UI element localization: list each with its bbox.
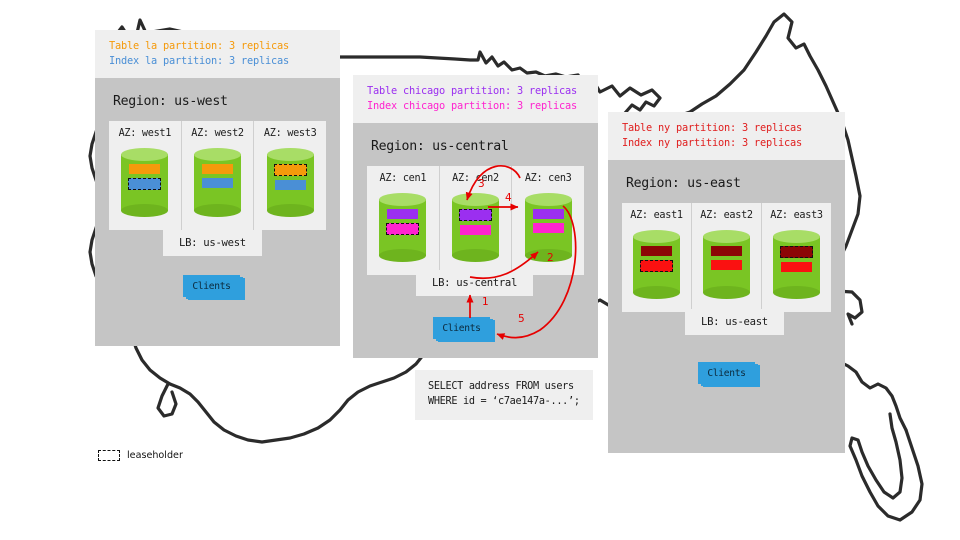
az-cell-cen1[interactable]: AZ: cen1 — [367, 166, 440, 275]
table-replica-bar-east2 — [711, 246, 742, 256]
index-replica-bar-east3 — [781, 262, 812, 272]
table-replica-bar-cen1 — [387, 209, 418, 219]
partition-table-line-us-east: Table ny partition: 3 replicas — [622, 121, 831, 136]
region-cluster-us-central: Table chicago partition: 3 replicas Inde… — [353, 75, 598, 358]
az-cell-east1[interactable]: AZ: east1 — [622, 203, 692, 312]
region-title-us-east: Region: us-east — [622, 171, 831, 203]
az-label-east1: AZ: east1 — [630, 210, 683, 221]
clients-card-front: Clients — [698, 362, 755, 384]
az-row-us-east: AZ: east1 AZ: east2 — [622, 203, 831, 312]
arrow-label-1: 1 — [482, 296, 489, 308]
az-cell-west3[interactable]: AZ: west3 — [254, 121, 326, 230]
database-cylinder-east1[interactable] — [633, 230, 680, 299]
cylinder-bottom — [379, 249, 426, 262]
lb-box-us-east[interactable]: LB: us-east — [685, 309, 784, 335]
clients-card-front: Clients — [183, 275, 240, 297]
az-row-us-west: AZ: west1 AZ: west2 — [109, 121, 326, 230]
arrow-label-4: 4 — [505, 192, 512, 204]
replica-bars-west1 — [121, 164, 168, 190]
index-replica-bar-east2 — [711, 260, 742, 270]
database-cylinder-east2[interactable] — [703, 230, 750, 299]
az-label-cen3: AZ: cen3 — [525, 173, 572, 184]
clients-stack-us-central[interactable]: Clients — [433, 317, 495, 342]
cylinder-bottom — [633, 286, 680, 299]
database-cylinder-cen2[interactable] — [452, 193, 499, 262]
database-cylinder-cen1[interactable] — [379, 193, 426, 262]
clients-stack-us-east[interactable]: Clients — [698, 362, 760, 387]
index-replica-bar-east1-leaseholder — [640, 260, 673, 272]
dashed-rectangle-icon — [98, 450, 120, 461]
sql-line-2: WHERE id = ‘c7ae147a-...’; — [428, 394, 580, 409]
table-replica-bar-west2 — [202, 164, 233, 174]
replica-bars-east2 — [703, 246, 750, 270]
index-replica-bar-west3 — [275, 180, 306, 190]
database-cylinder-west3[interactable] — [267, 148, 314, 217]
index-replica-bar-cen3 — [533, 223, 564, 233]
region-title-us-central: Region: us-central — [367, 134, 584, 166]
az-cell-east3[interactable]: AZ: east3 — [762, 203, 831, 312]
az-label-west1: AZ: west1 — [119, 128, 172, 139]
sql-line-1: SELECT address FROM users — [428, 379, 580, 394]
index-replica-bar-cen2 — [460, 225, 491, 235]
replica-bars-west3 — [267, 164, 314, 190]
partition-index-line-us-east: Index ny partition: 3 replicas — [622, 136, 831, 151]
table-replica-bar-cen3 — [533, 209, 564, 219]
partition-table-line-us-central: Table chicago partition: 3 replicas — [367, 84, 584, 99]
replica-bars-west2 — [194, 164, 241, 188]
replica-bars-cen3 — [525, 209, 572, 233]
sql-query-note: SELECT address FROM users WHERE id = ‘c7… — [415, 370, 593, 420]
table-replica-bar-cen2-leaseholder — [459, 209, 492, 221]
diagram-canvas: Table la partition: 3 replicas Index la … — [0, 0, 960, 540]
index-replica-bar-west2 — [202, 178, 233, 188]
az-label-west3: AZ: west3 — [264, 128, 317, 139]
index-replica-bar-cen1-leaseholder — [386, 223, 419, 235]
arrow-label-2: 2 — [547, 252, 554, 264]
lb-box-us-central[interactable]: LB: us-central — [416, 270, 533, 296]
arrow-label-5: 5 — [518, 313, 525, 325]
clients-stack-us-west[interactable]: Clients — [183, 275, 245, 300]
az-label-cen2: AZ: cen2 — [452, 173, 499, 184]
region-body-us-west: Region: us-west AZ: west1 AZ — [95, 78, 340, 346]
table-replica-bar-west1 — [129, 164, 160, 174]
cylinder-bottom — [703, 286, 750, 299]
az-label-west2: AZ: west2 — [191, 128, 244, 139]
table-replica-bar-west3-leaseholder — [274, 164, 307, 176]
legend-label: leaseholder — [127, 450, 183, 461]
cylinder-bottom — [121, 204, 168, 217]
clients-card-front: Clients — [433, 317, 490, 339]
database-cylinder-west2[interactable] — [194, 148, 241, 217]
partition-table-line-us-west: Table la partition: 3 replicas — [109, 39, 326, 54]
cylinder-bottom — [267, 204, 314, 217]
cylinder-bottom — [773, 286, 820, 299]
replica-bars-cen1 — [379, 209, 426, 235]
database-cylinder-west1[interactable] — [121, 148, 168, 217]
region-cluster-us-west: Table la partition: 3 replicas Index la … — [95, 30, 340, 346]
table-replica-bar-east3-leaseholder — [780, 246, 813, 258]
partition-header-us-central: Table chicago partition: 3 replicas Inde… — [353, 75, 598, 123]
replica-bars-east3 — [773, 246, 820, 272]
cylinder-bottom — [452, 249, 499, 262]
region-body-us-east: Region: us-east AZ: east1 AZ — [608, 160, 845, 453]
partition-header-us-east: Table ny partition: 3 replicas Index ny … — [608, 112, 845, 160]
region-cluster-us-east: Table ny partition: 3 replicas Index ny … — [608, 112, 845, 453]
arrow-label-3: 3 — [478, 178, 485, 190]
replica-bars-cen2 — [452, 209, 499, 235]
replica-bars-east1 — [633, 246, 680, 272]
cylinder-bottom — [194, 204, 241, 217]
lb-box-us-west[interactable]: LB: us-west — [163, 230, 262, 256]
az-cell-west1[interactable]: AZ: west1 — [109, 121, 182, 230]
partition-header-us-west: Table la partition: 3 replicas Index la … — [95, 30, 340, 78]
az-label-cen1: AZ: cen1 — [380, 173, 427, 184]
partition-index-line-us-central: Index chicago partition: 3 replicas — [367, 99, 584, 114]
table-replica-bar-east1 — [641, 246, 672, 256]
az-cell-cen2[interactable]: AZ: cen2 — [440, 166, 513, 275]
database-cylinder-east3[interactable] — [773, 230, 820, 299]
az-label-east3: AZ: east3 — [770, 210, 823, 221]
legend-leaseholder: leaseholder — [98, 450, 183, 461]
index-replica-bar-west1-leaseholder — [128, 178, 161, 190]
az-label-east2: AZ: east2 — [700, 210, 753, 221]
az-cell-east2[interactable]: AZ: east2 — [692, 203, 762, 312]
region-title-us-west: Region: us-west — [109, 89, 326, 121]
partition-index-line-us-west: Index la partition: 3 replicas — [109, 54, 326, 69]
az-cell-west2[interactable]: AZ: west2 — [182, 121, 255, 230]
